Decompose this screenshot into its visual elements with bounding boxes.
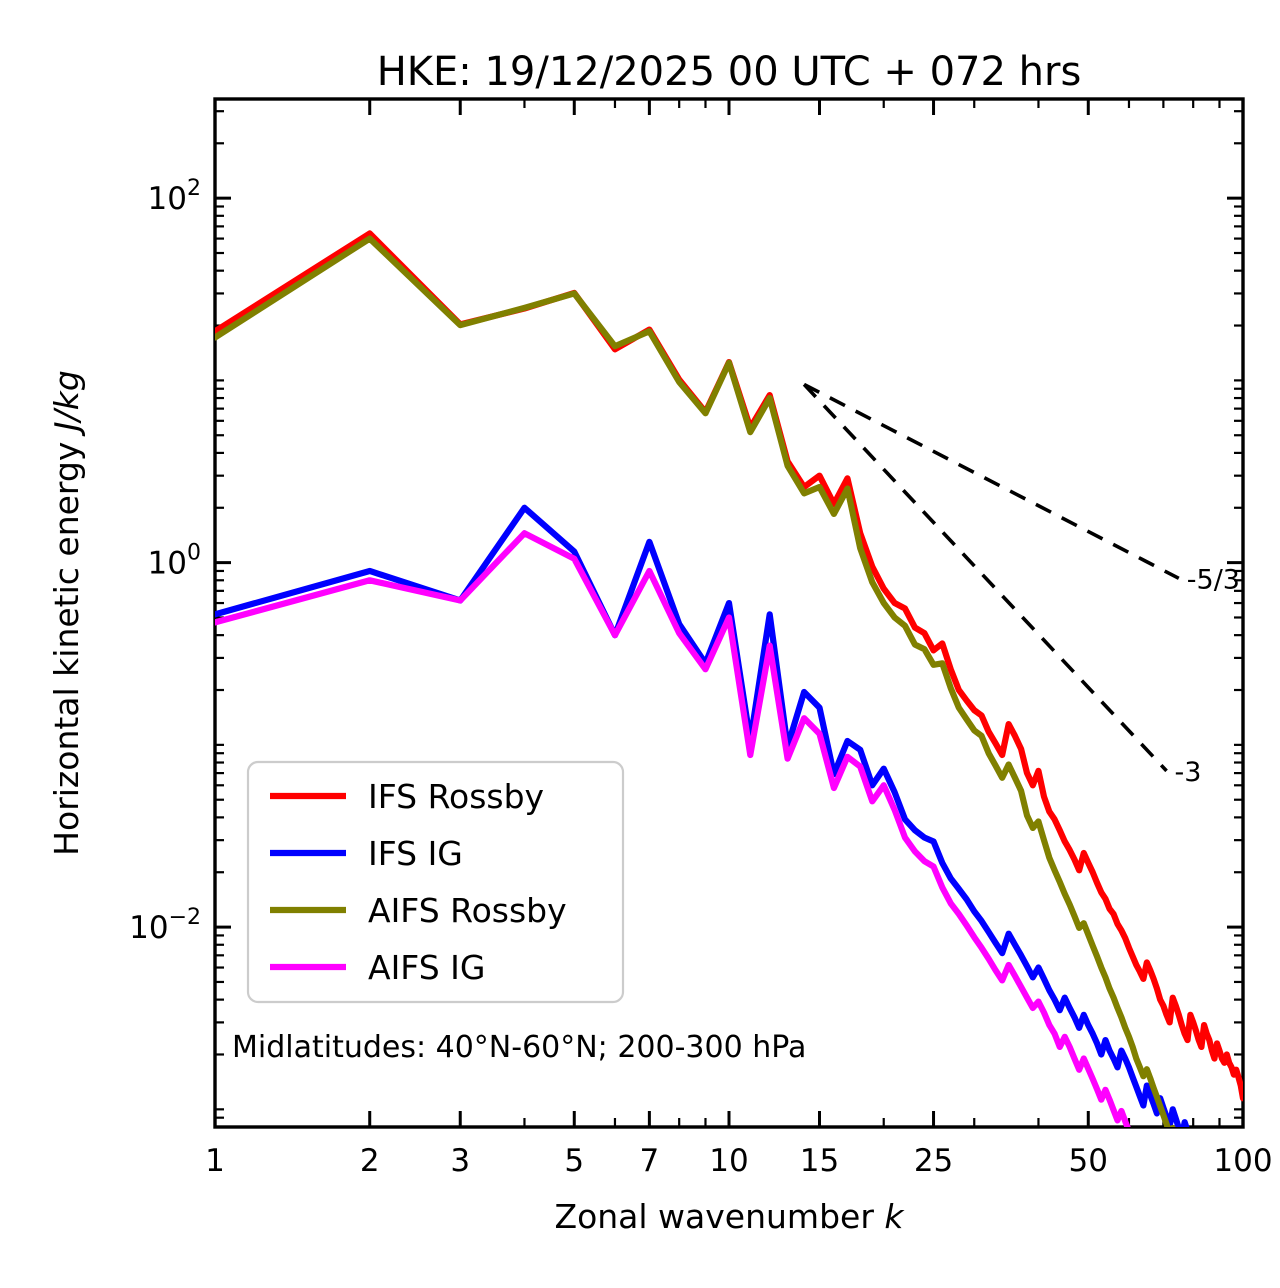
y-tick-label: 10−2: [129, 905, 201, 946]
hke-spectrum-chart: HKE: 19/12/2025 00 UTC + 072 hrs Horizon…: [0, 0, 1280, 1288]
x-tick-label: 2: [360, 1143, 380, 1179]
legend-label-ifs-rossby[interactable]: IFS Rossby: [368, 777, 544, 816]
y-tick-label: 102: [148, 176, 201, 217]
y-tick-label: 100: [148, 541, 201, 582]
legend-label-ifs-ig[interactable]: IFS IG: [368, 834, 463, 873]
x-tick-label: 7: [640, 1143, 660, 1179]
x-tick-label: 50: [1069, 1143, 1108, 1179]
x-tick-label: 1: [205, 1143, 225, 1179]
reference-line-label: -5/3: [1187, 564, 1240, 595]
legend-label-aifs-ig[interactable]: AIFS IG: [368, 948, 485, 987]
y-axis-tick-labels: 10210010−2: [129, 176, 201, 946]
x-tick-label: 100: [1213, 1143, 1272, 1179]
x-tick-label: 3: [450, 1143, 470, 1179]
region-annotation: Midlatitudes: 40°N-60°N; 200-300 hPa: [232, 1030, 806, 1065]
reference-line-label: -3: [1175, 757, 1202, 788]
x-tick-label: 10: [709, 1143, 748, 1179]
x-tick-label: 15: [800, 1143, 839, 1179]
x-axis-label: Zonal wavenumber k: [554, 1197, 905, 1236]
y-axis-label: Horizontal kinetic energy J/kg: [47, 370, 86, 856]
reference-slope-lines: [804, 384, 1179, 770]
chart-legend[interactable]: IFS RossbyIFS IGAIFS RossbyAIFS IG: [248, 762, 623, 1002]
data-series-group: [215, 233, 1243, 1288]
chart-title: HKE: 19/12/2025 00 UTC + 072 hrs: [377, 49, 1082, 95]
reference-line: [804, 384, 1166, 770]
reference-slope-labels: -5/3-3: [1175, 564, 1240, 788]
x-tick-label: 25: [914, 1143, 953, 1179]
figure-container: HKE: 19/12/2025 00 UTC + 072 hrs Horizon…: [0, 0, 1280, 1288]
legend-label-aifs-rossby[interactable]: AIFS Rossby: [368, 891, 567, 930]
x-tick-label: 5: [564, 1143, 584, 1179]
x-axis-tick-labels: 1235710152550100: [205, 1143, 1272, 1179]
